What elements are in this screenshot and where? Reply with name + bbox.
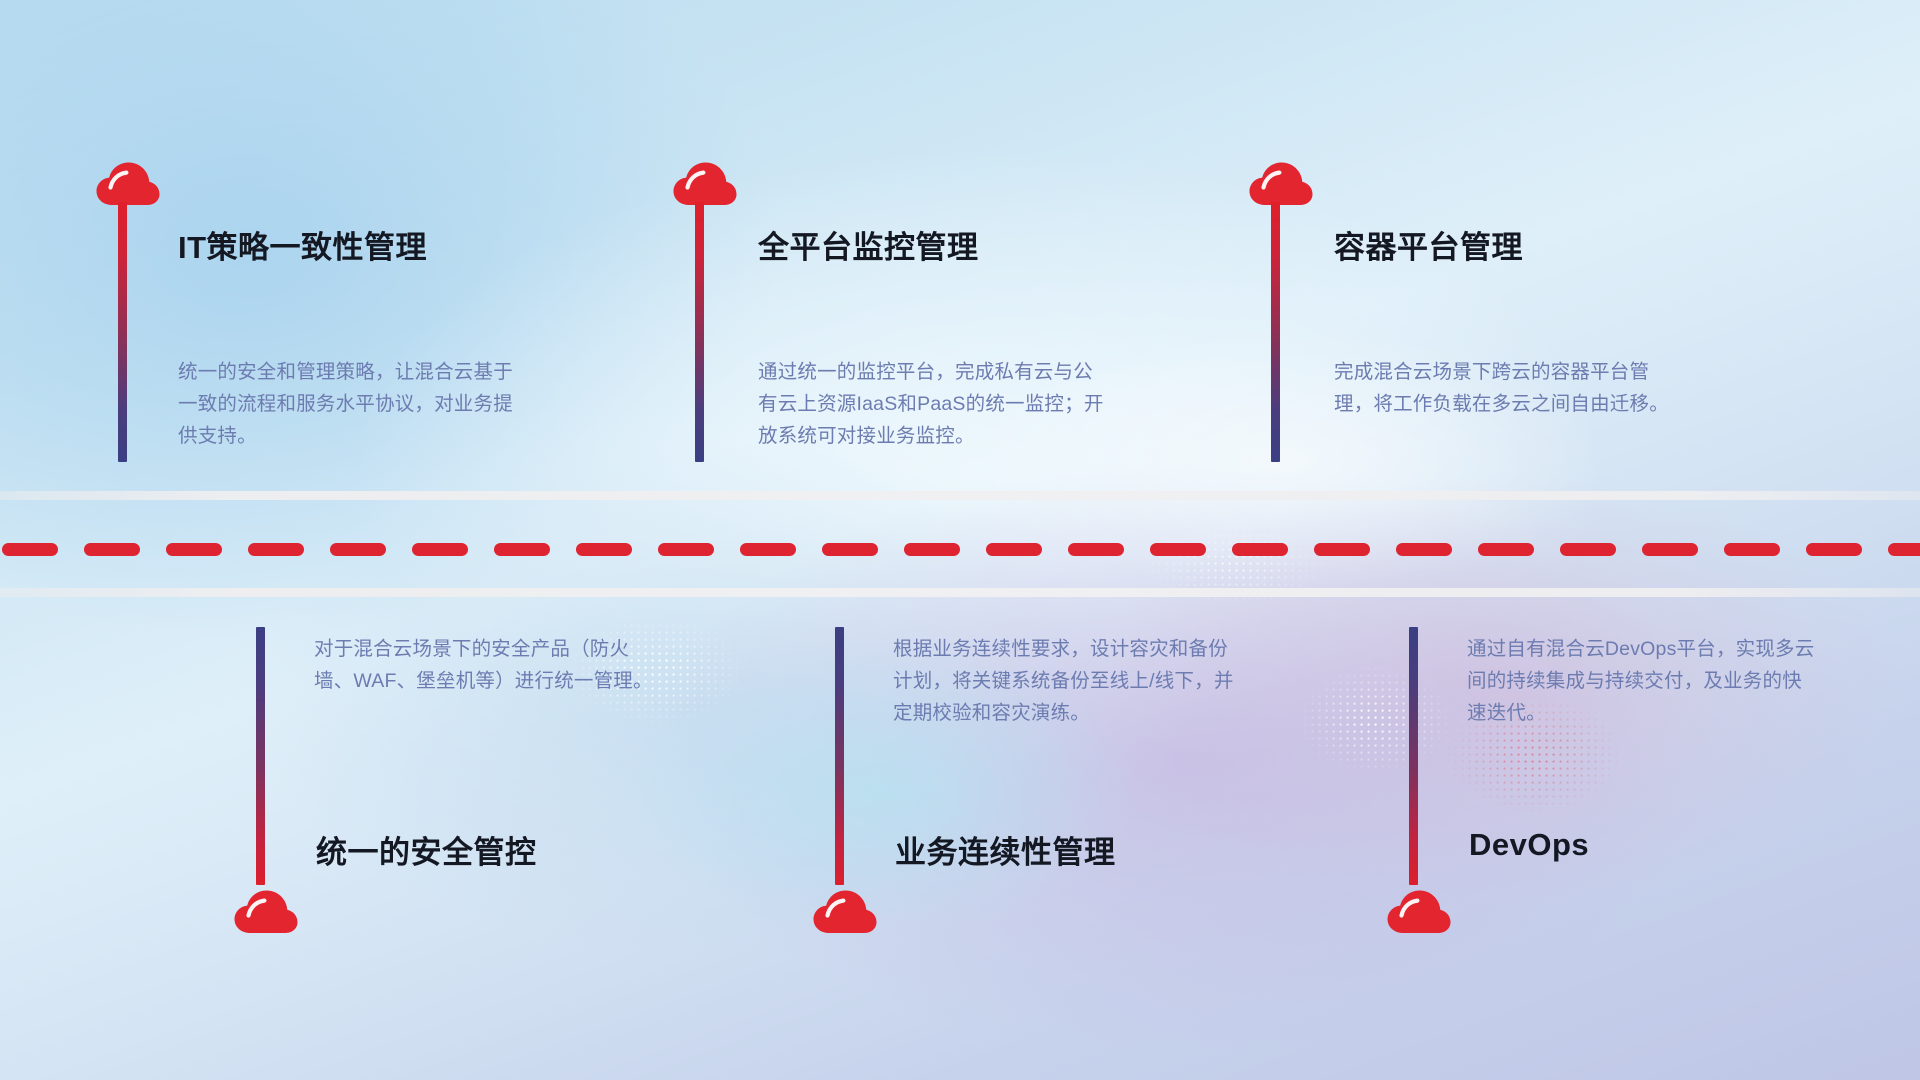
divider-dash — [1806, 543, 1862, 556]
divider-dash — [248, 543, 304, 556]
infographic-canvas: IT策略一致性管理 统一的安全和管理策略，让混合云基于一致的流程和服务水平协议，… — [0, 0, 1920, 1080]
card-title: 统一的安全管控 — [316, 827, 537, 872]
divider-dash — [1478, 543, 1534, 556]
divider-dash — [1724, 543, 1780, 556]
card-title: 全平台监控管理 — [758, 222, 979, 267]
timeline-stem — [256, 627, 265, 885]
divider-dash — [986, 543, 1042, 556]
divider-dash — [84, 543, 140, 556]
card-body: 统一的安全和管理策略，让混合云基于一致的流程和服务水平协议，对业务提供支持。 — [178, 356, 530, 452]
divider-dash — [1642, 543, 1698, 556]
divider-dash — [1888, 543, 1920, 556]
card-title: 容器平台管理 — [1334, 222, 1523, 267]
divider-dash — [1150, 543, 1206, 556]
cloud-icon — [234, 890, 298, 934]
cloud-icon — [1249, 162, 1313, 206]
timeline-stem — [835, 627, 844, 885]
divider-dash — [1314, 543, 1370, 556]
divider-dash — [576, 543, 632, 556]
divider-dash — [2, 543, 58, 556]
separator-bar-top — [0, 491, 1920, 500]
divider-dash — [822, 543, 878, 556]
separator-bar-bottom — [0, 588, 1920, 597]
cloud-icon — [1387, 890, 1451, 934]
divider-dash — [166, 543, 222, 556]
divider-dash — [658, 543, 714, 556]
divider-dash — [1232, 543, 1288, 556]
timeline-stem — [1271, 202, 1280, 462]
divider-dash — [330, 543, 386, 556]
divider-dash — [494, 543, 550, 556]
card-title: IT策略一致性管理 — [178, 222, 427, 267]
card-title: DevOps — [1469, 827, 1589, 863]
card-body: 通过自有混合云DevOps平台，实现多云间的持续集成与持续交付，及业务的快速迭代… — [1467, 633, 1819, 729]
card-title: 业务连续性管理 — [895, 827, 1116, 872]
divider-dash — [1068, 543, 1124, 556]
cloud-icon — [96, 162, 160, 206]
divider-dash — [904, 543, 960, 556]
timeline-stem — [695, 202, 704, 462]
divider-dash — [740, 543, 796, 556]
red-dashed-divider — [0, 543, 1920, 556]
card-body: 根据业务连续性要求，设计容灾和备份计划，将关键系统备份至线上/线下，并定期校验和… — [893, 633, 1245, 729]
speckle-cluster-center — [1290, 660, 1460, 780]
timeline-stem — [118, 202, 127, 462]
divider-dash — [1560, 543, 1616, 556]
card-body: 完成混合云场景下跨云的容器平台管理，将工作负载在多云之间自由迁移。 — [1334, 356, 1686, 420]
cloud-icon — [673, 162, 737, 206]
cloud-icon — [813, 890, 877, 934]
card-body: 通过统一的监控平台，完成私有云与公有云上资源IaaS和PaaS的统一监控；开放系… — [758, 356, 1110, 452]
card-body: 对于混合云场景下的安全产品（防火墙、WAF、堡垒机等）进行统一管理。 — [314, 633, 666, 697]
divider-dash — [412, 543, 468, 556]
divider-dash — [1396, 543, 1452, 556]
timeline-stem — [1409, 627, 1418, 885]
